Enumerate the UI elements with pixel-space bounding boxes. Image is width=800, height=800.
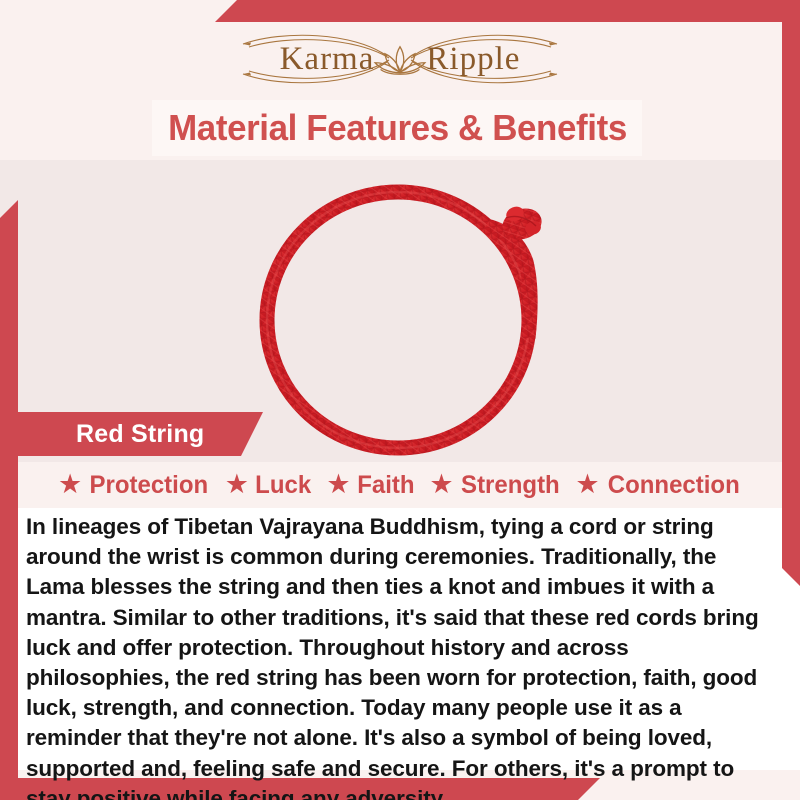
decorative-top-bar (215, 0, 800, 22)
benefit-item-connection: ★ Connection (575, 471, 742, 500)
benefit-item-luck: ★ Luck (225, 471, 313, 500)
benefit-item-protection: ★ Protection (58, 471, 211, 500)
benefit-item-strength: ★ Strength (429, 471, 561, 500)
product-name-ribbon: Red String (18, 412, 263, 456)
benefit-label: Strength (461, 471, 560, 500)
star-icon: ★ (429, 471, 453, 498)
brand-name-right: Ripple (426, 41, 520, 78)
brand-name-left: Karma (280, 41, 375, 78)
product-image-red-string-bracelet (228, 170, 598, 460)
benefit-label: Luck (255, 471, 311, 500)
star-icon: ★ (225, 471, 249, 498)
product-name-label: Red String (18, 420, 204, 449)
benefit-label: Protection (90, 471, 209, 500)
star-icon: ★ (326, 471, 350, 498)
benefits-list: ★ Protection ★ Luck ★ Faith ★ Strength ★… (0, 464, 800, 506)
benefit-item-faith: ★ Faith (326, 471, 415, 500)
page-title: Material Features & Benefits (168, 107, 627, 149)
brand-logo: Karma Ripple (0, 28, 800, 90)
page-title-band: Material Features & Benefits (152, 100, 642, 156)
lotus-icon (371, 42, 429, 78)
benefit-label: Connection (607, 471, 739, 500)
infographic-page: Karma Ripple Material Features & Benefit… (0, 0, 800, 800)
star-icon: ★ (575, 471, 599, 498)
description-paragraph: In lineages of Tibetan Vajrayana Buddhis… (26, 512, 774, 800)
benefit-label: Faith (357, 471, 414, 500)
star-icon: ★ (58, 471, 82, 498)
